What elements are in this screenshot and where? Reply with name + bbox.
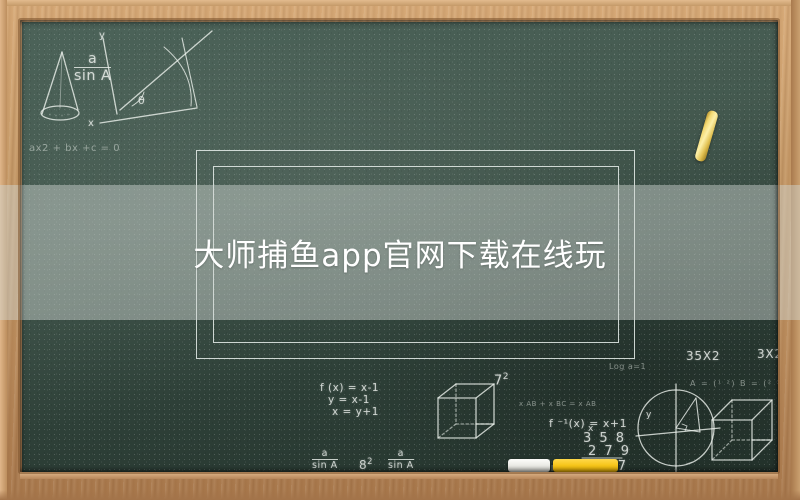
frame-inner-bevel (20, 20, 778, 472)
frame-edge-bottom (0, 490, 800, 500)
frame-edge-top (0, 0, 800, 6)
chalk-tray-ledge (20, 472, 778, 479)
chalkboard-banner: a sin A y x θ ax2 + bx +c = 0 f (x) = x-… (0, 0, 800, 500)
